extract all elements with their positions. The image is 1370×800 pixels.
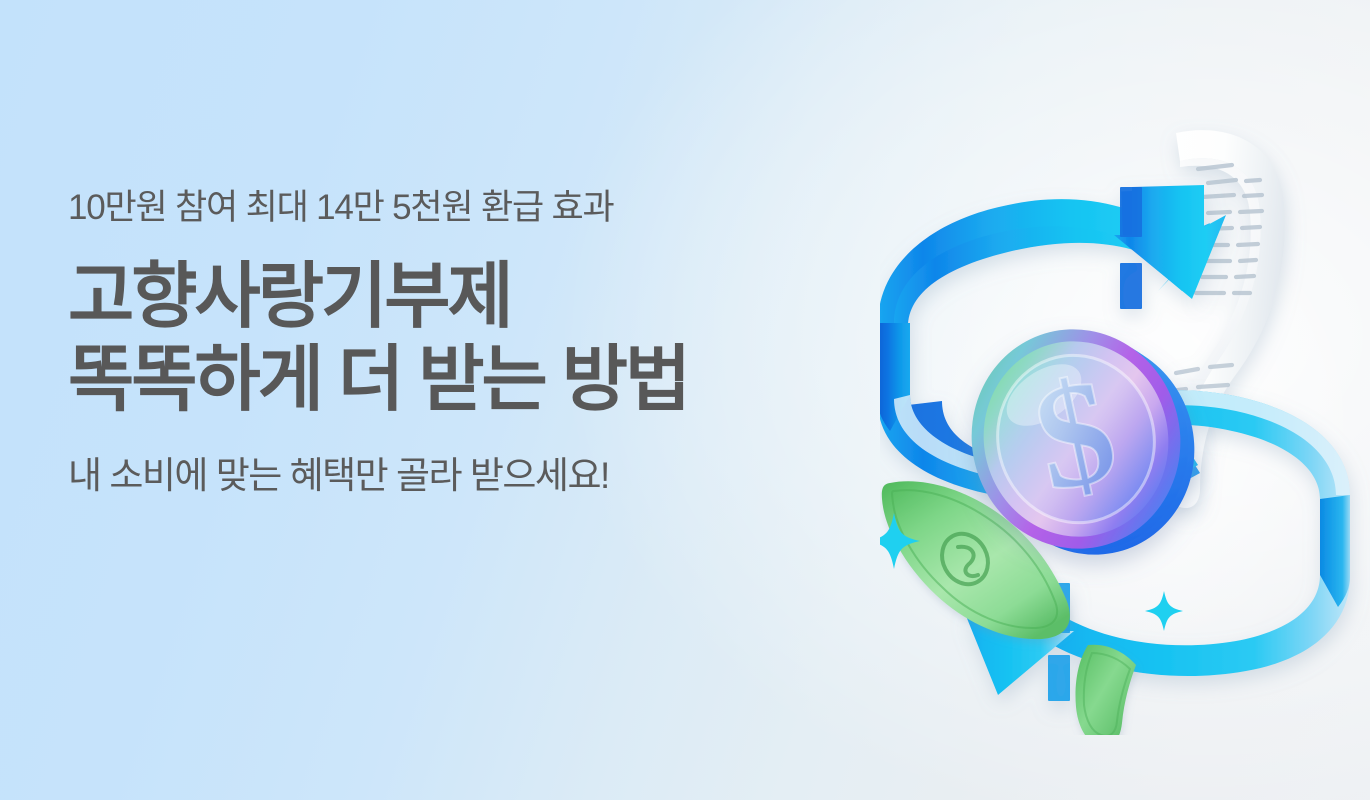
banknote-small-icon xyxy=(1076,645,1137,735)
promo-banner[interactable]: 10만원 참여 최대 14만 5천원 환급 효과 고향사랑기부제 똑똑하게 더 … xyxy=(0,0,1370,800)
banner-subcopy: 내 소비에 맞는 혜택만 골라 받으세요! xyxy=(68,453,898,499)
banner-headline: 고향사랑기부제 똑똑하게 더 받는 방법 xyxy=(68,256,898,423)
headline-line-1: 고향사랑기부제 xyxy=(68,256,898,340)
banner-copy-block: 10만원 참여 최대 14만 5천원 환급 효과 고향사랑기부제 똑똑하게 더 … xyxy=(68,186,898,499)
banner-eyebrow: 10만원 참여 최대 14만 5천원 환급 효과 xyxy=(68,186,898,230)
cashback-spiral-illustration: $ xyxy=(880,95,1370,735)
headline-line-2: 똑똑하게 더 받는 방법 xyxy=(68,339,898,423)
